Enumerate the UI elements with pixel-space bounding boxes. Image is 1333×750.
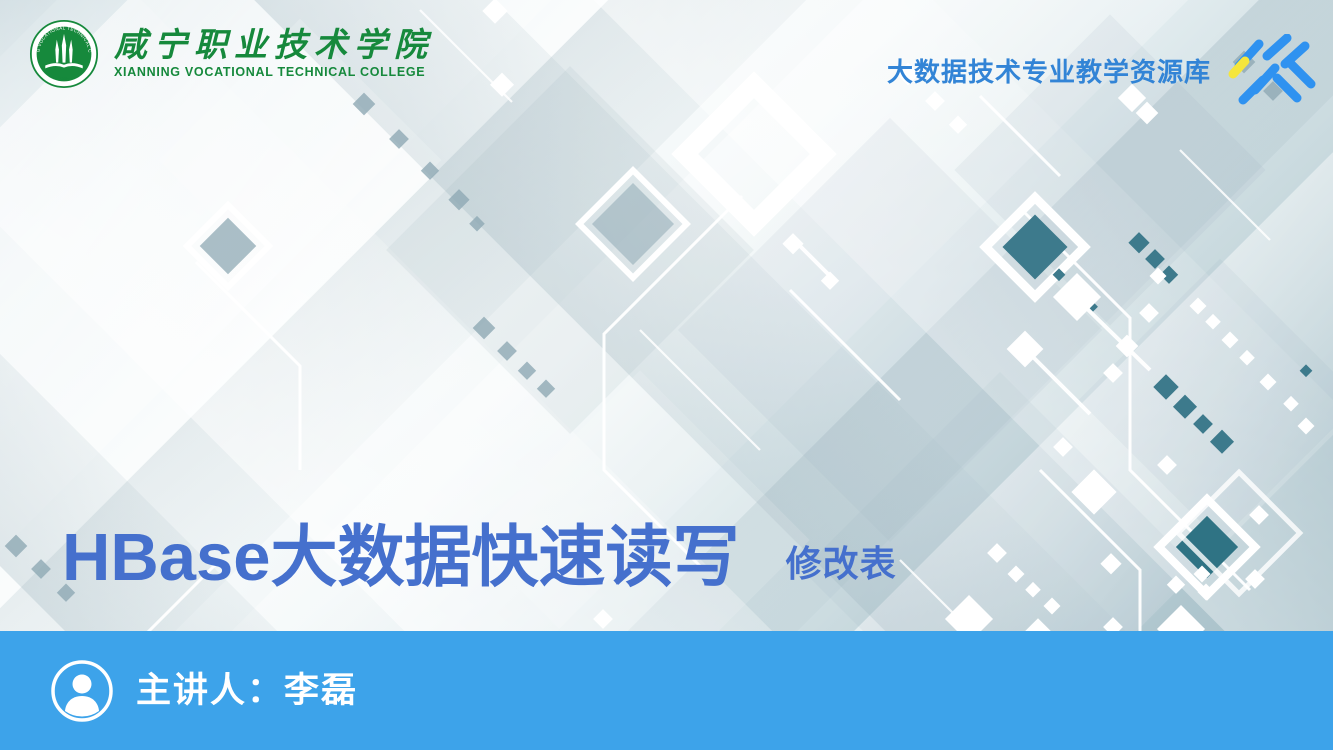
diamond-ring-left: [187, 205, 269, 287]
college-name-group: 咸宁职业技术学院 XIANNING VOCATIONAL TECHNICAL C…: [114, 29, 434, 78]
college-name-en: XIANNING VOCATIONAL TECHNICAL COLLEGE: [114, 66, 434, 79]
user-avatar-icon: [50, 659, 114, 723]
resource-library-logo-icon: [1225, 34, 1317, 110]
page-title: HBase大数据快速读写: [62, 524, 740, 591]
college-name-cn: 咸宁职业技术学院: [114, 29, 434, 64]
presenter-label: 主讲人：李磊: [136, 673, 358, 708]
college-seal-icon: 1985 XIANNING VOCATIONAL TECHNICAL COLLE…: [28, 18, 100, 90]
resource-library-brand: 大数据技术专业教学资源库: [887, 34, 1317, 110]
diamond-ring-large: [685, 85, 824, 224]
diamond-ring-medium: [579, 170, 686, 277]
teal-diamonds: [986, 198, 1300, 596]
page-subtitle: 修改表: [786, 546, 897, 591]
svg-text:1985: 1985: [59, 76, 69, 81]
title-block: HBase大数据快速读写 修改表: [62, 524, 897, 591]
presenter-bar: 主讲人：李磊: [0, 631, 1333, 750]
teal-square-trail: [1037, 232, 1312, 454]
presentation-slide: 1985 XIANNING VOCATIONAL TECHNICAL COLLE…: [0, 0, 1333, 750]
brand-title: 大数据技术专业教学资源库: [887, 59, 1211, 85]
college-logo: 1985 XIANNING VOCATIONAL TECHNICAL COLLE…: [28, 18, 434, 90]
